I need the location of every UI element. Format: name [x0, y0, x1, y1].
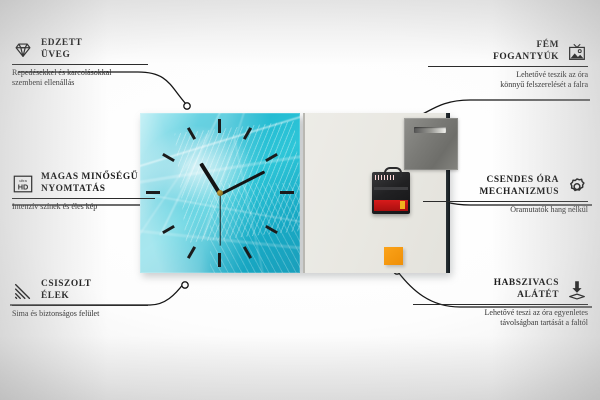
callout-rule	[12, 64, 148, 65]
callout-title-line2: ÉLEK	[41, 291, 91, 303]
callout-subtitle-line1: Repedésekkel és karcolásokkal	[12, 68, 162, 78]
panel-seam	[303, 113, 305, 273]
callout-rule	[413, 304, 588, 305]
callout-subtitle-line1: Óramutatók hang nélkül	[423, 205, 588, 215]
polished-edges-icon	[12, 280, 34, 302]
diamond-icon	[12, 39, 34, 61]
hanger-slot	[414, 127, 446, 133]
callout-subtitle-line1: Sima és biztonságos felület	[12, 309, 162, 319]
svg-text:HD: HD	[18, 182, 29, 191]
connector-endpoint-edzett-uveg	[184, 103, 190, 109]
callout-title-line1: EDZETT	[41, 38, 82, 50]
foam-pad-arrow-icon	[566, 279, 588, 301]
callout-subtitle-line2: szembeni ellenállás	[12, 78, 162, 88]
clock-second-hand	[219, 194, 220, 246]
feather-plume-secondary	[210, 183, 300, 273]
callout-csendes-ora-mechanizmus: CSENDES ÓRA MECHANIZMUS Óramutatók hang …	[423, 175, 588, 215]
callout-title-line2: ÜVEG	[41, 50, 82, 62]
picture-hanger-icon	[566, 41, 588, 63]
callout-title-line2: MECHANIZMUS	[480, 187, 560, 199]
metal-hanger-plate	[404, 118, 458, 170]
callout-subtitle-line1: Intenzív színek és éles kép	[12, 202, 172, 212]
callout-csiszolt-elek: CSISZOLT ÉLEK Sima és biztonságos felüle…	[12, 279, 162, 319]
mechanism-vents	[375, 175, 395, 180]
callout-title-line2: ALÁTÉT	[494, 290, 559, 302]
callout-rule	[12, 198, 155, 199]
callout-rule	[12, 305, 148, 306]
callout-subtitle-line2: távolságban tartását a faltól	[413, 318, 588, 328]
callout-title-line2: NYOMTATÁS	[41, 184, 138, 196]
callout-magas-minosegu-nyomtatas: ultra HD MAGAS MINŐSÉGŰ NYOMTATÁS Intenz…	[12, 172, 172, 212]
callout-habszivacs-alatet: HABSZIVACS ALÁTÉT Lehetővé teszi az óra …	[413, 278, 588, 328]
callout-rule	[423, 201, 588, 202]
callout-title-line1: HABSZIVACS	[494, 278, 559, 290]
mechanism-label	[374, 200, 408, 211]
callout-fem-fogantyuk: FÉM FOGANTYÚK Lehetővé teszik az óra kön…	[428, 40, 588, 90]
gear-icon	[566, 176, 588, 198]
callout-title-line2: FOGANTYÚK	[493, 52, 559, 64]
callout-title-line1: MAGAS MINŐSÉGŰ	[41, 172, 138, 184]
clock-mechanism	[372, 172, 410, 214]
callout-title-line1: CSISZOLT	[41, 279, 91, 291]
callout-subtitle-line1: Lehetővé teszi az óra egyenletes	[413, 308, 588, 318]
mechanism-band	[374, 187, 408, 190]
clock-center-cap	[217, 190, 223, 196]
product-infographic: EDZETT ÜVEG Repedésekkel és karcolásokka…	[0, 0, 600, 400]
callout-subtitle-line2: könnyű felszerelését a falra	[428, 80, 588, 90]
foam-pad	[384, 247, 403, 265]
callout-edzett-uveg: EDZETT ÜVEG Repedésekkel és karcolásokka…	[12, 38, 162, 88]
callout-rule	[428, 66, 588, 67]
connector-endpoint-csiszolt-elek	[182, 282, 188, 288]
callout-title-line1: CSENDES ÓRA	[480, 175, 560, 187]
callout-subtitle-line1: Lehetővé teszik az óra	[428, 70, 588, 80]
ultra-hd-icon: ultra HD	[12, 173, 34, 195]
callout-title-line1: FÉM	[493, 40, 559, 52]
